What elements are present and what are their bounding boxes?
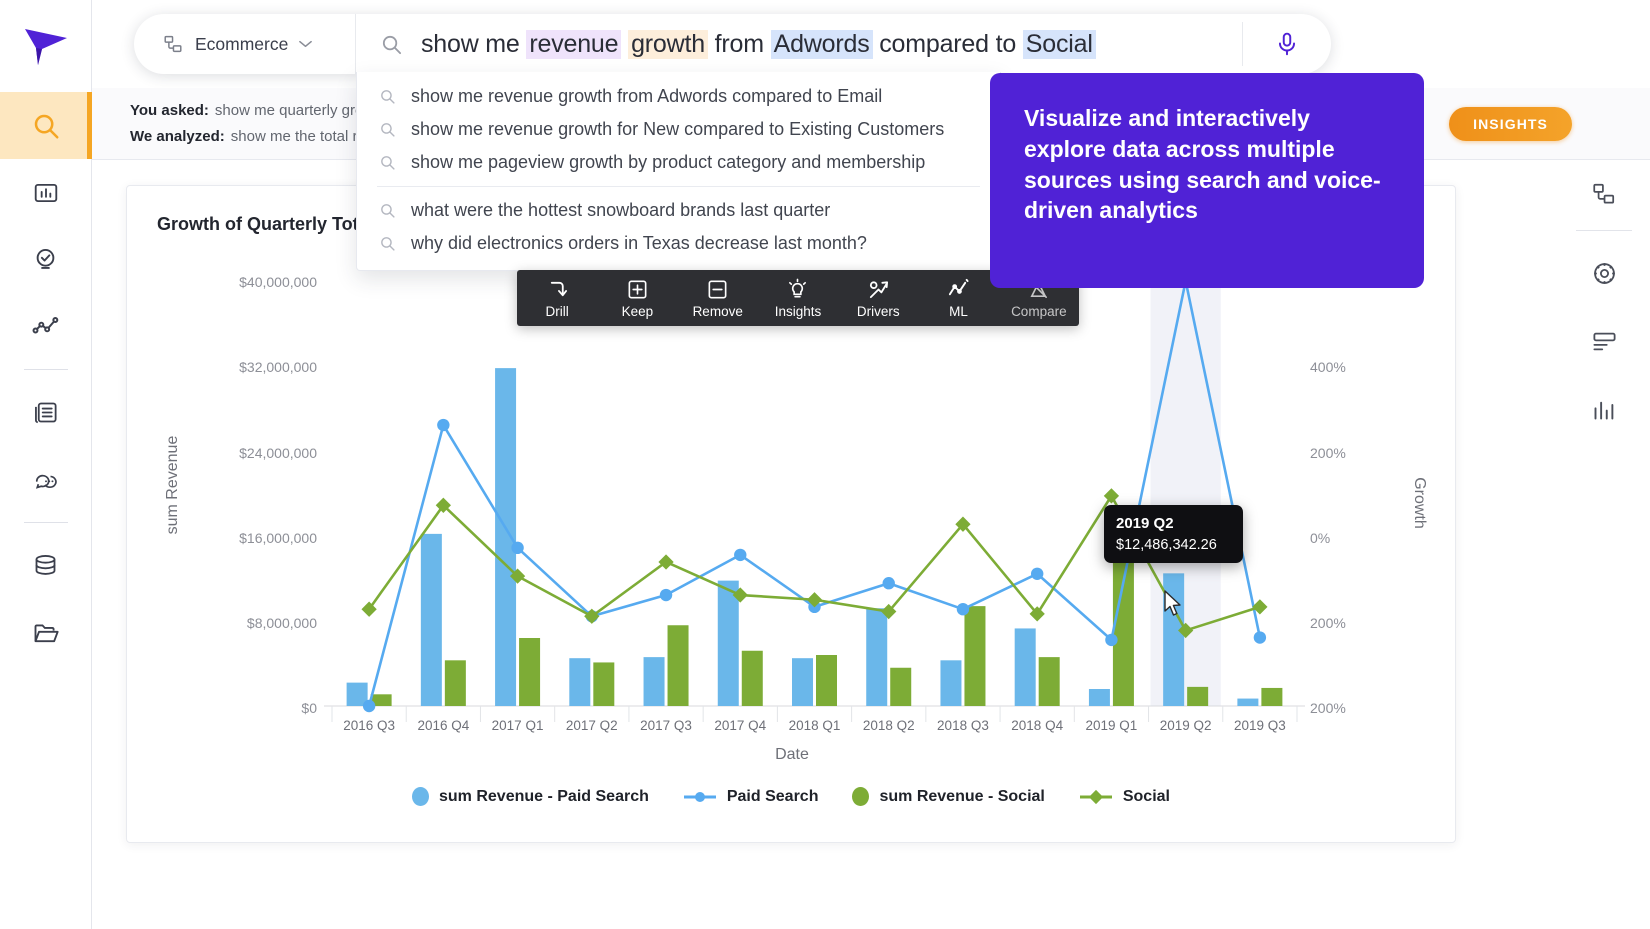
folder-icon <box>32 619 60 647</box>
sidebar-item-liveboards[interactable] <box>0 379 92 446</box>
chart-bar[interactable] <box>644 657 665 706</box>
x-axis-tick-label: 2018 Q1 <box>775 718 855 733</box>
chart-marker[interactable] <box>1031 568 1043 580</box>
suggestion-item[interactable]: show me revenue growth for New compared … <box>357 113 1000 146</box>
data-source-selector[interactable]: Ecommerce <box>134 14 356 74</box>
rightrail-chart-type[interactable] <box>1558 375 1650 443</box>
sidebar-item-search[interactable] <box>0 92 92 159</box>
sidebar-item-monitor[interactable] <box>0 293 92 360</box>
chart-bar[interactable] <box>495 368 516 706</box>
chart-bar[interactable] <box>964 606 985 706</box>
sidebar-item-library[interactable] <box>0 599 92 666</box>
search-icon <box>379 202 396 219</box>
legend-swatch-line <box>1079 788 1113 806</box>
chart-marker[interactable] <box>363 700 375 712</box>
legend-label: Social <box>1123 788 1170 806</box>
sidebar-item-answers[interactable] <box>0 159 92 226</box>
x-axis-tick-label: 2017 Q4 <box>700 718 780 733</box>
chart-marker[interactable] <box>957 603 969 615</box>
query-token: show me <box>421 30 526 58</box>
chart-bar[interactable] <box>1039 657 1060 706</box>
x-axis-tick-label: 2019 Q1 <box>1071 718 1151 733</box>
search-icon <box>380 33 403 56</box>
chart-bar[interactable] <box>742 651 763 706</box>
toolbar-insights[interactable]: Insights <box>758 270 838 326</box>
selected-column-highlight <box>1151 256 1221 706</box>
drill-down-icon <box>546 278 569 301</box>
chart-bar[interactable] <box>445 660 466 706</box>
legend-item-paid-search[interactable]: Paid Search <box>683 788 819 806</box>
chart-bar[interactable] <box>816 655 837 706</box>
x-axis-tick-label: 2018 Q4 <box>997 718 1077 733</box>
database-icon <box>32 552 59 579</box>
legend-swatch-bar <box>852 787 869 806</box>
trend-line-icon <box>32 313 60 341</box>
rightrail-settings[interactable] <box>1558 239 1650 307</box>
x-axis-tick-label: 2019 Q2 <box>1146 718 1226 733</box>
toolbar-drill[interactable]: Drill <box>517 270 597 326</box>
toolbar-drivers[interactable]: Drivers <box>838 270 918 326</box>
toolbar-label: Insights <box>775 304 822 319</box>
lightbulb-check-icon <box>32 246 59 273</box>
chart-bar[interactable] <box>890 668 911 706</box>
x-axis-tick-label: 2019 Q3 <box>1220 718 1300 733</box>
rightrail-format[interactable] <box>1558 307 1650 375</box>
query-token-highlight-orange: growth <box>628 30 708 59</box>
right-sidebar <box>1558 160 1650 443</box>
query-token-highlight-purple: revenue <box>526 30 621 59</box>
suggestion-label: why did electronics orders in Texas decr… <box>411 233 867 254</box>
chart-bar[interactable] <box>593 662 614 706</box>
chart-bar[interactable] <box>421 534 442 706</box>
legend-swatch-line <box>683 788 717 806</box>
sidebar-separator-1 <box>24 369 68 370</box>
legend-item-sum-revenue-social[interactable]: sum Revenue - Social <box>852 787 1044 806</box>
sidebar-separator-2 <box>24 522 68 523</box>
search-input-area[interactable]: show me revenue growth from Adwords comp… <box>356 30 1242 59</box>
toolbar-label: Drill <box>546 304 569 319</box>
query-token-highlight-blue: Social <box>1023 30 1096 59</box>
query-token: compared to <box>873 30 1023 58</box>
chart-bar[interactable] <box>1237 699 1258 706</box>
toolbar-label: Keep <box>622 304 654 319</box>
data-point-tooltip: 2019 Q2 $12,486,342.26 <box>1104 505 1243 563</box>
toolbar-remove[interactable]: Remove <box>678 270 758 326</box>
suggestion-item[interactable]: why did electronics orders in Texas decr… <box>357 227 1000 260</box>
data-source-icon <box>162 33 184 55</box>
left-sidebar <box>0 0 92 929</box>
format-icon <box>1591 328 1618 355</box>
data-source-label: Ecommerce <box>195 34 288 55</box>
search-query-text[interactable]: show me revenue growth from Adwords comp… <box>421 30 1096 59</box>
you-asked-label: You asked: <box>130 102 209 119</box>
x-axis-tick-label: 2018 Q2 <box>849 718 929 733</box>
chart-bar[interactable] <box>718 581 739 706</box>
lightbulb-icon <box>786 278 809 301</box>
mouse-cursor <box>1163 590 1183 623</box>
chart-marker[interactable] <box>660 589 672 601</box>
chart-bar[interactable] <box>569 658 590 706</box>
search-bar: Ecommerce show me revenue growth from Ad… <box>134 14 1331 74</box>
chart-bar[interactable] <box>940 660 961 706</box>
legend-item-sum-revenue-paid-search[interactable]: sum Revenue - Paid Search <box>412 787 649 806</box>
x-axis-tick-label: 2018 Q3 <box>923 718 1003 733</box>
insights-button[interactable]: INSIGHTS <box>1449 107 1572 141</box>
legend-label: Paid Search <box>727 788 819 806</box>
toolbar-label: Compare <box>1011 304 1067 319</box>
chart-bar[interactable] <box>1261 688 1282 706</box>
suggestion-label: show me revenue growth from Adwords comp… <box>411 86 882 107</box>
chat-bubbles-icon <box>32 466 60 494</box>
legend-label: sum Revenue - Paid Search <box>439 788 649 806</box>
x-axis-tick-label: 2016 Q3 <box>329 718 409 733</box>
data-source-icon <box>1591 181 1617 207</box>
chart-marker[interactable] <box>883 577 895 589</box>
rightrail-sources[interactable] <box>1558 160 1650 228</box>
we-analyzed-label: We analyzed: <box>130 128 225 145</box>
search-icon <box>379 88 396 105</box>
chart-bar[interactable] <box>668 625 689 706</box>
chart-marker[interactable] <box>1254 631 1266 643</box>
minus-box-icon <box>706 278 729 301</box>
search-icon <box>379 154 396 171</box>
query-token-highlight-blue: Adwords <box>771 30 873 59</box>
chart-marker[interactable] <box>1105 634 1117 646</box>
app-logo[interactable] <box>0 0 91 92</box>
x-axis-tick-label: 2017 Q1 <box>478 718 558 733</box>
chart-legend: sum Revenue - Paid Search Paid Search su… <box>127 787 1455 806</box>
document-icon <box>32 399 59 426</box>
chart-marker[interactable] <box>511 542 523 554</box>
toolbar-ml[interactable]: ML <box>918 270 998 326</box>
suggestion-item[interactable]: show me pageview growth by product categ… <box>357 146 1000 179</box>
voice-search-button[interactable] <box>1243 31 1331 57</box>
tooltip-value: $12,486,342.26 <box>1116 537 1231 553</box>
sidebar-item-spotiq[interactable] <box>0 226 92 293</box>
legend-swatch-bar <box>412 787 429 806</box>
chart-bar[interactable] <box>1089 689 1110 706</box>
chart-bar[interactable] <box>866 608 887 706</box>
sidebar-item-conversations[interactable] <box>0 446 92 513</box>
search-icon <box>31 111 61 141</box>
toolbar-label: ML <box>949 304 968 319</box>
chart-type-icon <box>1591 396 1618 423</box>
rightrail-separator <box>1576 230 1632 231</box>
suggestion-item[interactable]: show me revenue growth from Adwords comp… <box>357 80 1000 113</box>
gear-icon <box>1591 260 1618 287</box>
suggestion-group-separator <box>377 186 980 187</box>
search-icon <box>379 235 396 252</box>
toolbar-keep[interactable]: Keep <box>597 270 677 326</box>
legend-item-social[interactable]: Social <box>1079 788 1170 806</box>
bar-chart-icon <box>33 180 59 206</box>
callout-text: Visualize and interactively explore data… <box>1024 103 1390 226</box>
legend-label: sum Revenue - Social <box>879 788 1044 806</box>
x-axis-tick-label: 2017 Q3 <box>626 718 706 733</box>
drivers-arrow-icon <box>867 278 890 301</box>
toolbar-label: Remove <box>693 304 743 319</box>
search-suggestions-dropdown: show me revenue growth from Adwords comp… <box>356 72 1001 271</box>
chart-marker[interactable] <box>437 419 449 431</box>
feature-callout: Visualize and interactively explore data… <box>990 73 1424 288</box>
chevron-down-icon <box>299 40 312 48</box>
toolbar-label: Drivers <box>857 304 900 319</box>
suggestion-item[interactable]: what were the hottest snowboard brands l… <box>357 194 1000 227</box>
suggestion-label: show me revenue growth for New compared … <box>411 119 944 140</box>
chart-bar[interactable] <box>1187 687 1208 706</box>
microphone-icon <box>1274 31 1300 57</box>
ml-spark-icon <box>947 278 970 301</box>
chart-bar[interactable] <box>792 658 813 706</box>
suggestion-label: show me pageview growth by product categ… <box>411 152 925 173</box>
chart-bar[interactable] <box>519 638 540 706</box>
suggestion-label: what were the hottest snowboard brands l… <box>411 200 830 221</box>
tooltip-title: 2019 Q2 <box>1116 515 1231 532</box>
query-token: from <box>708 30 771 58</box>
chart-marker[interactable] <box>734 549 746 561</box>
chart-bar[interactable] <box>1015 628 1036 706</box>
chart-marker[interactable] <box>1104 488 1119 503</box>
sidebar-item-data[interactable] <box>0 532 92 599</box>
plus-box-icon <box>626 278 649 301</box>
search-icon <box>379 121 396 138</box>
x-axis-tick-label: 2016 Q4 <box>403 718 483 733</box>
x-axis-tick-label: 2017 Q2 <box>552 718 632 733</box>
